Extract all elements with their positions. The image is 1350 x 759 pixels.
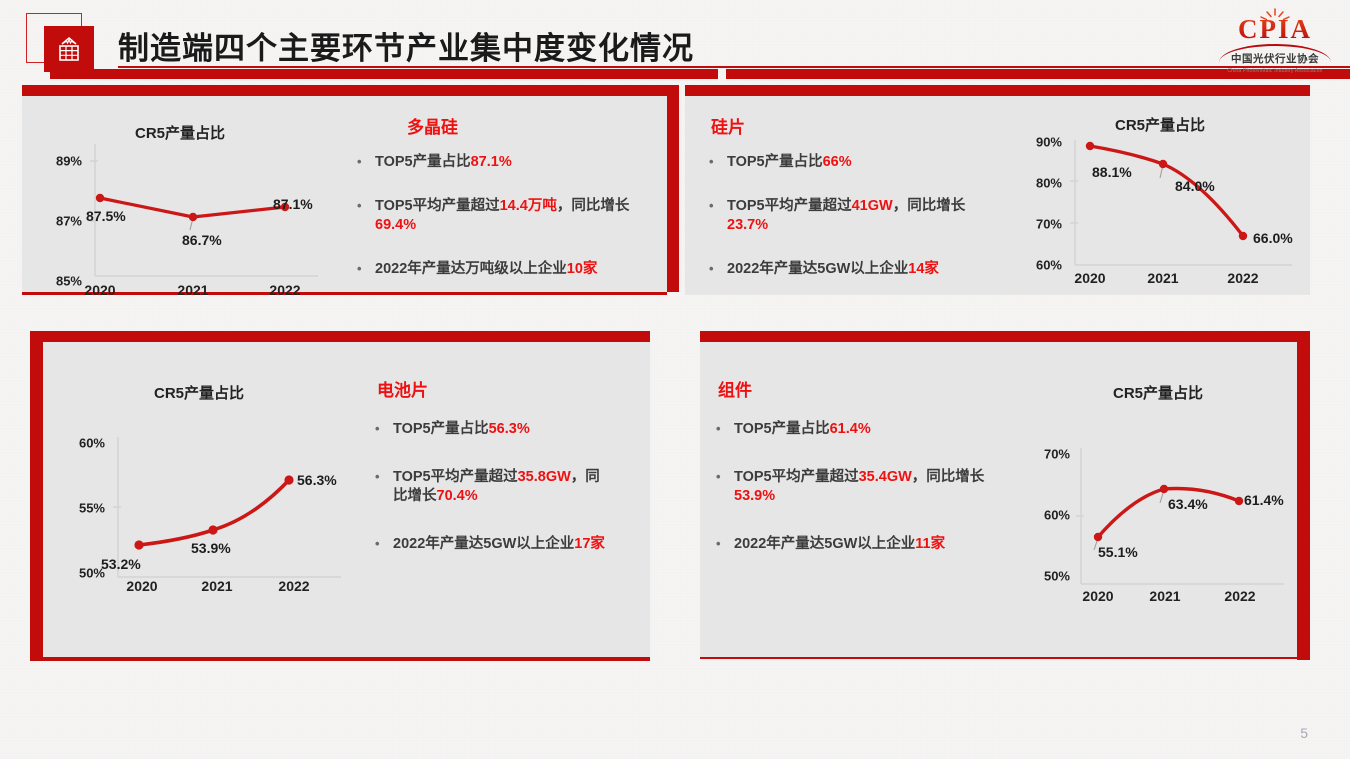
x-tick: 2021 — [177, 282, 208, 298]
panel-heading: 组件 — [718, 376, 752, 401]
bullet-text: TOP5平均产量超过41GW，同比增长 — [727, 197, 1009, 217]
bullet-text: 比增长70.4% — [393, 487, 660, 507]
x-tick: 2020 — [1082, 588, 1113, 604]
list-item-continuation: 比增长70.4% — [375, 487, 660, 507]
y-tick: 55% — [49, 501, 105, 516]
x-tick: 2020 — [1074, 270, 1105, 286]
plot-area — [1070, 136, 1300, 276]
list-item: • TOP5平均产量超过41GW，同比增长 — [709, 197, 1009, 217]
list-item: • TOP5平均产量超过35.8GW，同 — [375, 468, 660, 488]
list-item-continuation: 69.4% — [357, 216, 657, 236]
panel-body: CR5产量占比 89% 87% 85% — [22, 96, 667, 292]
panel-module: 组件 • TOP5产量占比61.4% • TOP5平均产量超过35.4GW，同比… — [700, 331, 1310, 664]
x-tick: 2021 — [201, 578, 232, 594]
list-item: • TOP5平均产量超过14.4万吨，同比增长 — [357, 197, 657, 217]
plot-area — [113, 432, 343, 587]
panel-top-bar — [30, 331, 650, 342]
data-label: 56.3% — [297, 472, 337, 488]
y-tick: 70% — [1018, 447, 1070, 462]
x-tick: 2020 — [126, 578, 157, 594]
bullet-text: TOP5产量占比66% — [727, 153, 1009, 173]
panel-heading: 电池片 — [377, 376, 428, 401]
bullet-text: TOP5产量占比56.3% — [393, 420, 660, 440]
bullet-marker: • — [716, 468, 734, 488]
bullet-list: • TOP5产量占比61.4% • TOP5平均产量超过35.4GW，同比增长 … — [716, 420, 1026, 554]
list-item: • 2022年产量达5GW以上企业17家 — [375, 535, 660, 555]
panel-cell: CR5产量占比 60% 55% 50% 53.2% 53. — [30, 331, 650, 664]
y-tick: 85% — [30, 274, 82, 289]
bullet-marker: • — [375, 468, 393, 488]
list-item-continuation: 23.7% — [709, 216, 1009, 236]
panel-wafer: 硅片 • TOP5产量占比66% • TOP5平均产量超过41GW，同比增长 2… — [685, 85, 1310, 297]
bullet-text: TOP5平均产量超过35.4GW，同比增长 — [734, 468, 1026, 488]
list-item-continuation: 53.9% — [716, 487, 1026, 507]
slide-canvas: 制造端四个主要环节产业集中度变化情况 CPIA 中国光伏行业协会 China P… — [0, 0, 1350, 759]
x-tick: 2020 — [84, 282, 115, 298]
panel-bottom-bar — [30, 657, 650, 661]
list-item: • 2022年产量达5GW以上企业14家 — [709, 260, 1009, 280]
y-tick: 80% — [1010, 176, 1062, 191]
bullet-marker: • — [357, 153, 375, 173]
panel-side-bar — [667, 85, 679, 292]
data-label: 86.7% — [182, 232, 222, 248]
bullet-marker: • — [375, 420, 393, 440]
panel-top-bar — [22, 85, 679, 96]
y-tick: 60% — [49, 436, 105, 451]
bullet-text: 2022年产量达5GW以上企业17家 — [393, 535, 660, 555]
bullet-text: TOP5平均产量超过14.4万吨，同比增长 — [375, 197, 657, 217]
data-label: 84.0% — [1175, 178, 1215, 194]
bullet-marker: • — [357, 260, 375, 280]
x-tick: 2022 — [269, 282, 300, 298]
bullet-text: 2022年产量达5GW以上企业11家 — [734, 535, 1026, 555]
panel-polysilicon: CR5产量占比 89% 87% 85% — [22, 85, 679, 297]
bullet-text: TOP5产量占比87.1% — [375, 153, 657, 173]
panel-bottom-bar — [22, 292, 667, 295]
y-tick: 90% — [1010, 135, 1062, 150]
plot-area — [1076, 444, 1291, 594]
chart-title: CR5产量占比 — [1040, 114, 1280, 135]
cpia-logo: CPIA 中国光伏行业协会 China Photovoltaic Industr… — [1212, 4, 1338, 76]
logo-name-cn: 中国光伏行业协会 — [1212, 51, 1338, 66]
panel-top-bar — [685, 85, 1310, 96]
solar-panel-icon — [44, 26, 94, 72]
bullet-text: TOP5平均产量超过35.8GW，同 — [393, 468, 660, 488]
bullet-list: • TOP5产量占比56.3% • TOP5平均产量超过35.8GW，同 比增长… — [375, 420, 660, 554]
data-label: 53.2% — [101, 556, 141, 572]
y-tick: 50% — [1018, 569, 1070, 584]
chart-cell: CR5产量占比 60% 55% 50% 53.2% 53. — [49, 360, 359, 610]
panel-body: CR5产量占比 60% 55% 50% 53.2% 53. — [43, 342, 650, 657]
panel-heading: 多晶硅 — [407, 113, 458, 138]
logo-name-en: China Photovoltaic Industry Association — [1212, 68, 1338, 74]
y-tick: 60% — [1018, 508, 1070, 523]
bullet-list: • TOP5产量占比66% • TOP5平均产量超过41GW，同比增长 23.7… — [709, 153, 1009, 279]
list-item: • TOP5产量占比87.1% — [357, 153, 657, 173]
panel-heading: 硅片 — [711, 113, 745, 138]
panel-side-bar — [30, 331, 43, 660]
bullet-marker: • — [709, 153, 727, 173]
data-label: 53.9% — [191, 540, 231, 556]
bullet-marker-empty — [357, 216, 375, 236]
data-label: 55.1% — [1098, 544, 1138, 560]
title-bar-left — [50, 69, 718, 79]
data-label: 66.0% — [1253, 230, 1293, 246]
chart-title: CR5产量占比 — [30, 122, 330, 143]
bullet-marker-empty — [709, 216, 727, 236]
panel-body: 硅片 • TOP5产量占比66% • TOP5平均产量超过41GW，同比增长 2… — [685, 96, 1310, 295]
list-item: • 2022年产量达5GW以上企业11家 — [716, 535, 1026, 555]
bullet-list: • TOP5产量占比87.1% • TOP5平均产量超过14.4万吨，同比增长 … — [357, 153, 657, 279]
bullet-text: 2022年产量达万吨级以上企业10家 — [375, 260, 657, 280]
data-label: 61.4% — [1244, 492, 1284, 508]
x-tick: 2022 — [1227, 270, 1258, 286]
data-label: 63.4% — [1168, 496, 1208, 512]
panel-bottom-bar — [700, 657, 1297, 659]
data-label: 87.1% — [273, 196, 313, 212]
bullet-text: 23.7% — [727, 216, 1009, 236]
chart-title: CR5产量占比 — [69, 382, 329, 403]
list-item: • TOP5产量占比61.4% — [716, 420, 1026, 440]
list-item: • TOP5平均产量超过35.4GW，同比增长 — [716, 468, 1026, 488]
bullet-marker: • — [709, 197, 727, 217]
title-rule — [118, 66, 1350, 68]
sun-rays-icon — [1252, 8, 1298, 22]
x-tick: 2021 — [1147, 270, 1178, 286]
panel-body: 组件 • TOP5产量占比61.4% • TOP5平均产量超过35.4GW，同比… — [700, 342, 1297, 657]
list-item: • 2022年产量达万吨级以上企业10家 — [357, 260, 657, 280]
bullet-marker-empty — [716, 487, 734, 507]
y-tick: 60% — [1010, 258, 1062, 273]
chart-wafer: CR5产量占比 90% 80% 70% 60% — [1010, 100, 1310, 290]
chart-polysilicon: CR5产量占比 89% 87% 85% — [30, 104, 330, 284]
list-item: • TOP5产量占比66% — [709, 153, 1009, 173]
x-tick: 2022 — [278, 578, 309, 594]
y-tick: 89% — [30, 154, 82, 169]
panel-side-bar — [1297, 331, 1310, 660]
panel-top-bar — [700, 331, 1310, 342]
bullet-marker: • — [357, 197, 375, 217]
data-label: 87.5% — [86, 208, 126, 224]
y-tick: 87% — [30, 214, 82, 229]
y-tick: 50% — [49, 566, 105, 581]
data-label: 88.1% — [1092, 164, 1132, 180]
bullet-text: 53.9% — [734, 487, 1026, 507]
bullet-marker: • — [716, 535, 734, 555]
page-title: 制造端四个主要环节产业集中度变化情况 — [118, 23, 694, 68]
x-tick: 2021 — [1149, 588, 1180, 604]
page-number: 5 — [1300, 725, 1308, 741]
y-tick: 70% — [1010, 217, 1062, 232]
bullet-text: 2022年产量达5GW以上企业14家 — [727, 260, 1009, 280]
list-item: • TOP5产量占比56.3% — [375, 420, 660, 440]
bullet-marker: • — [709, 260, 727, 280]
x-tick: 2022 — [1224, 588, 1255, 604]
bullet-marker-empty — [375, 487, 393, 507]
bullet-text: TOP5产量占比61.4% — [734, 420, 1026, 440]
bullet-marker: • — [716, 420, 734, 440]
bullet-marker: • — [375, 535, 393, 555]
bullet-text: 69.4% — [375, 216, 657, 236]
chart-title: CR5产量占比 — [1038, 382, 1278, 403]
chart-module: CR5产量占比 70% 60% 50% — [1018, 360, 1298, 610]
